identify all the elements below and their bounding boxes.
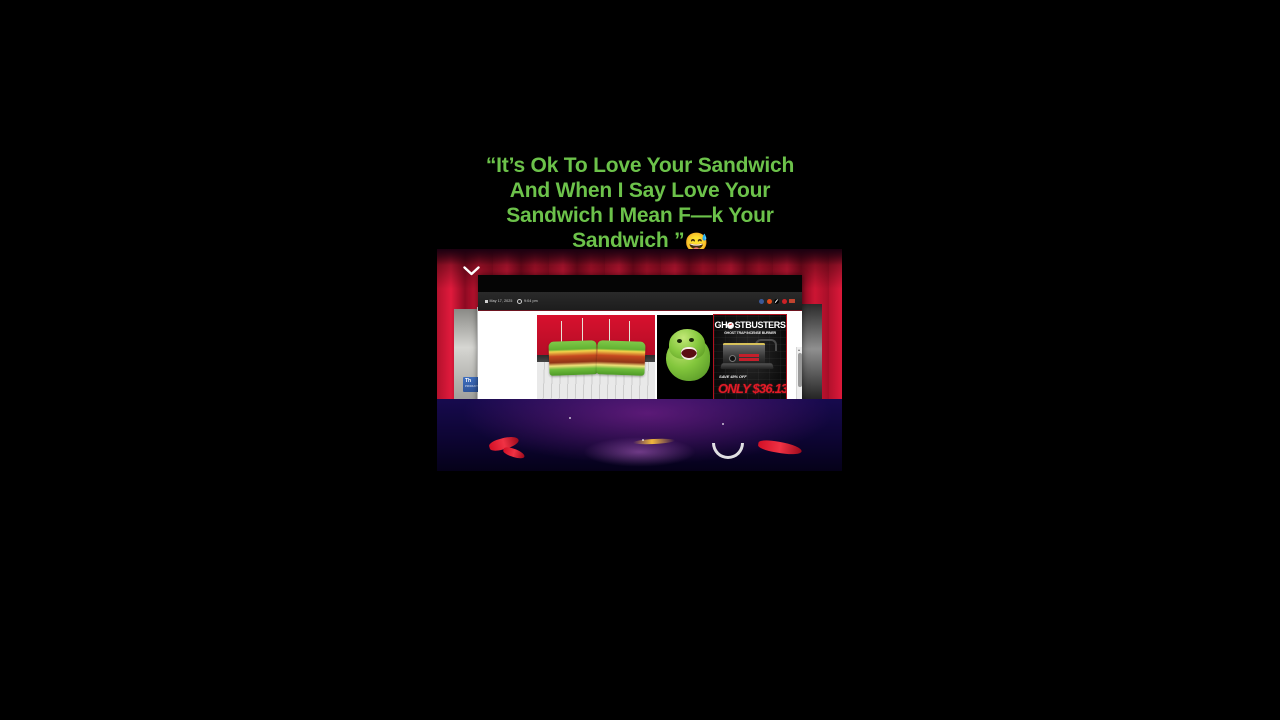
trap-stripe [739, 354, 759, 357]
pinterest-icon[interactable] [782, 299, 787, 304]
green-sandwich-half [596, 340, 645, 376]
sparkle [642, 439, 644, 441]
scrollbar-thumb[interactable] [798, 353, 802, 387]
headline-text: “It’s Ok To Love Your Sandwich And When … [486, 154, 794, 252]
slimer-mouth [681, 347, 697, 360]
email-icon[interactable] [789, 299, 795, 304]
trap-body [723, 343, 765, 365]
scroll-up-arrow-icon[interactable] [798, 349, 800, 351]
article-meta-bar: May 17, 2025 9:04 pm [478, 292, 802, 311]
reddit-icon[interactable] [767, 299, 772, 304]
ad-title-suffix: STBUSTERS [735, 320, 786, 330]
ad-title: GHSTBUSTERS [714, 320, 786, 330]
ad-price-text: ONLY $36.13! [718, 381, 783, 396]
slimer-photo [657, 315, 718, 402]
ad-title-prefix: GH [715, 320, 728, 330]
x-twitter-icon[interactable] [774, 299, 779, 304]
calendar-icon [485, 300, 488, 303]
sparkle [722, 423, 724, 425]
ad-ghostbusters-incense-burner[interactable]: GHSTBUSTERS GHOST TRAP INCENSE BURNER [713, 314, 787, 402]
sandwich-pick [609, 319, 610, 343]
social-share-row[interactable] [759, 299, 795, 304]
article-time: 9:04 pm [517, 299, 537, 304]
facebook-icon[interactable] [759, 299, 764, 304]
article-date-text: May 17, 2025 [490, 299, 513, 303]
white-arc-prop [712, 443, 744, 459]
red-ribbon-prop [502, 446, 525, 460]
screen-root: “It’s Ok To Love Your Sandwich And When … [0, 0, 1280, 720]
slimer-eye [677, 339, 682, 343]
ghost-logo-icon [727, 322, 734, 329]
sandwich-pick [582, 318, 583, 342]
curtain-top-shadow [437, 249, 842, 265]
article-meta-left: May 17, 2025 9:04 pm [485, 299, 538, 304]
article-date: May 17, 2025 [485, 299, 512, 303]
clock-icon [517, 299, 522, 304]
ghost-trap-product-image [721, 339, 781, 375]
trap-base [720, 363, 774, 369]
stage-floor [437, 399, 842, 471]
sandwich-photo [537, 315, 655, 402]
article-time-text: 9:04 pm [524, 299, 538, 303]
video-player-frame[interactable]: Th PRODUCT May 17, 2025 9:04 p [437, 249, 842, 471]
page-title: “It’s Ok To Love Your Sandwich And When … [440, 128, 840, 256]
article-scrollbar[interactable] [796, 347, 802, 407]
ad-subtitle: GHOST TRAP INCENSE BURNER [714, 331, 786, 335]
red-ribbon-prop [757, 439, 802, 457]
browser-chrome-top [478, 275, 802, 292]
slimer-eye [689, 338, 694, 342]
sparkle [569, 417, 571, 419]
article-media-row [537, 315, 718, 402]
green-sandwich-half [548, 340, 597, 376]
trap-dial [729, 355, 736, 362]
ad-save-text: SAVE 48% OFF [719, 374, 747, 379]
